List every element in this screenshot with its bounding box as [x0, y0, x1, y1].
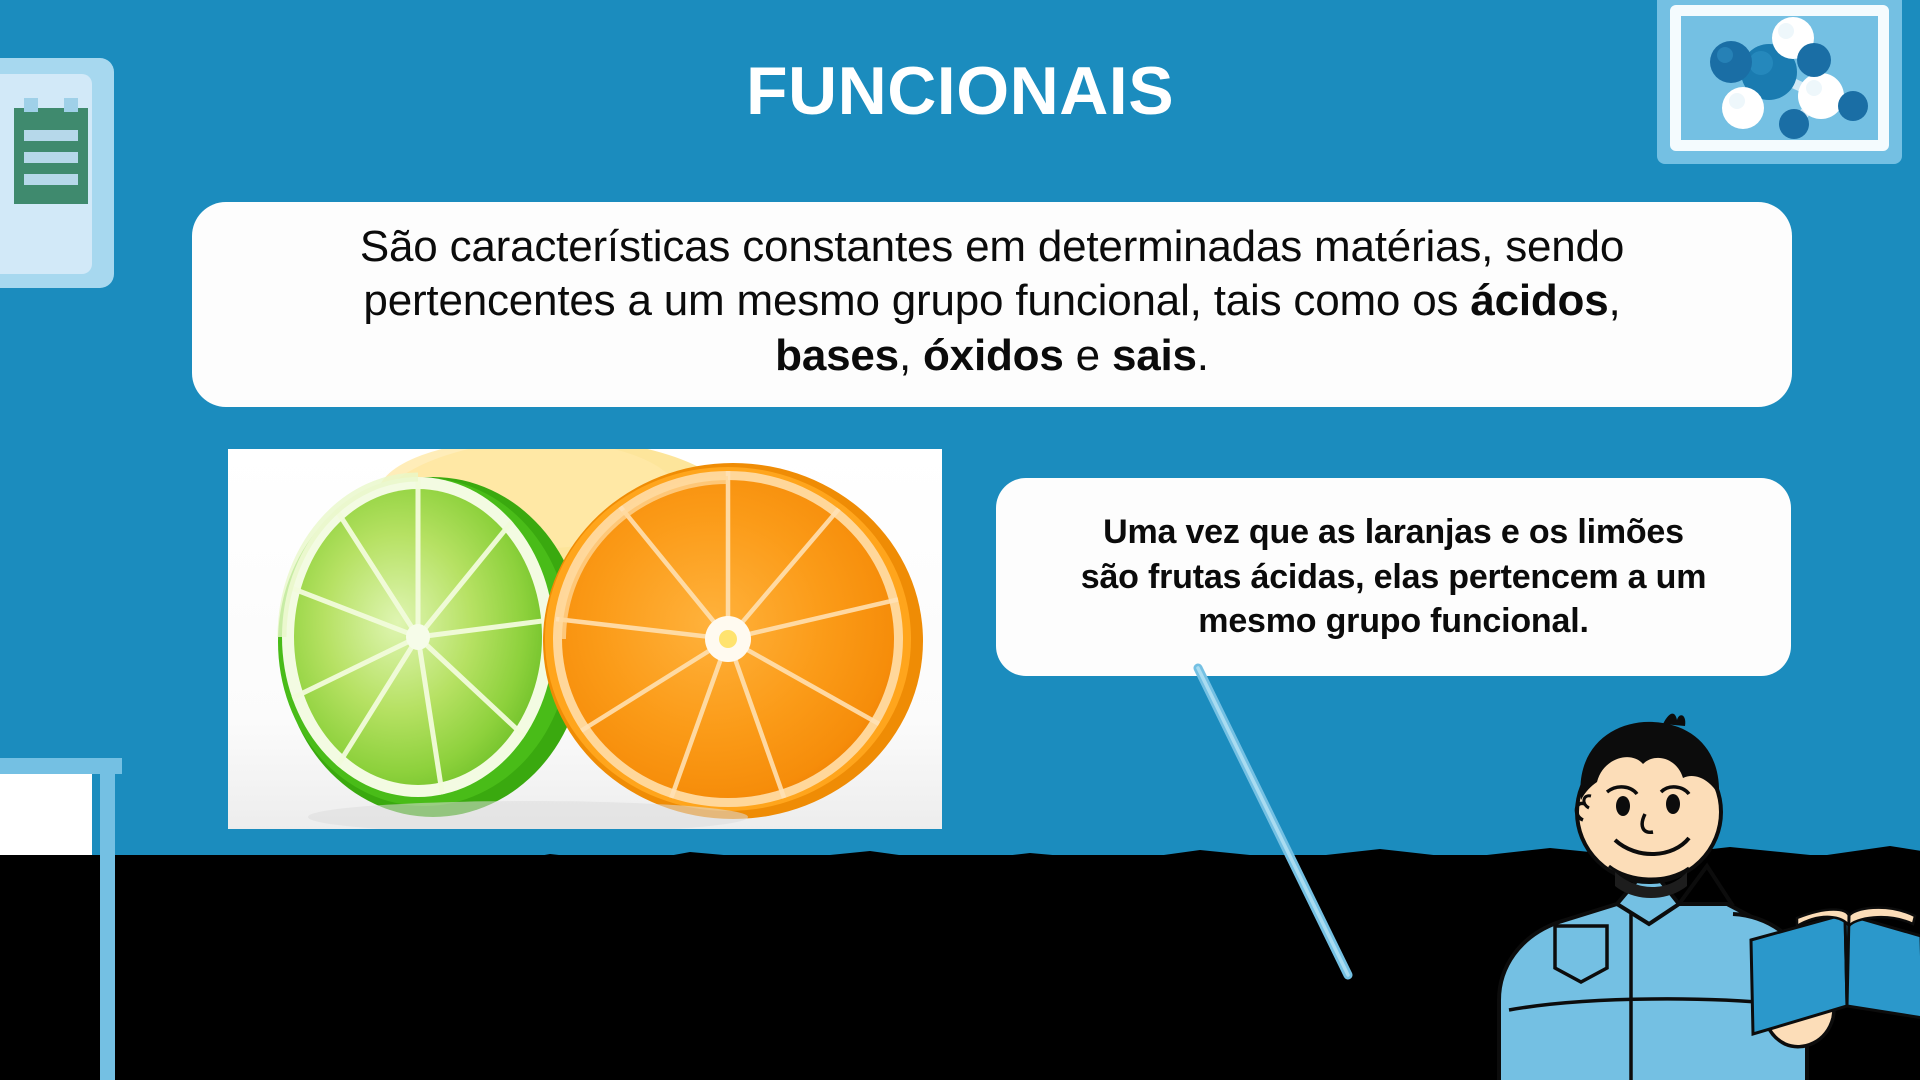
definition-keyword-acidos: ácidos — [1470, 276, 1608, 325]
bubble-line-3: mesmo grupo funcional. — [1198, 602, 1588, 640]
slide-canvas: FUNCIONAIS São características constante… — [0, 0, 1920, 1080]
definition-keyword-oxidos: óxidos — [923, 331, 1064, 380]
definition-keyword-sais: sais — [1112, 331, 1197, 380]
easel-leg — [100, 760, 115, 1080]
fruit-photo — [228, 449, 942, 829]
definition-keyword-bases: bases — [775, 331, 899, 380]
definition-line-2-tail: , — [1609, 276, 1621, 325]
clipboard-line — [24, 174, 78, 185]
definition-line-2-plain: pertencentes a um mesmo grupo funcional,… — [363, 276, 1470, 325]
definition-card: São características constantes em determ… — [192, 202, 1792, 407]
definition-line-1: São características constantes em determ… — [360, 222, 1624, 271]
speech-bubble: Uma vez que as laranjas e os limões são … — [996, 478, 1791, 676]
clipboard-line — [24, 152, 78, 163]
definition-separator-1: , — [899, 331, 923, 380]
bubble-line-1: Uma vez que as laranjas e os limões — [1103, 513, 1684, 551]
definition-separator-2: e — [1064, 331, 1112, 380]
definition-period: . — [1197, 331, 1209, 380]
teacher-illustration — [1497, 700, 1920, 1080]
definition-text: São características constantes em determ… — [360, 220, 1624, 384]
bubble-line-2: são frutas ácidas, elas pertencem a um — [1081, 558, 1706, 596]
clipboard-line — [24, 130, 78, 141]
speech-bubble-text: Uma vez que as laranjas e os limões são … — [1081, 510, 1706, 645]
lime-and-orange-image — [228, 449, 942, 829]
page-title: FUNCIONAIS — [746, 53, 1174, 129]
